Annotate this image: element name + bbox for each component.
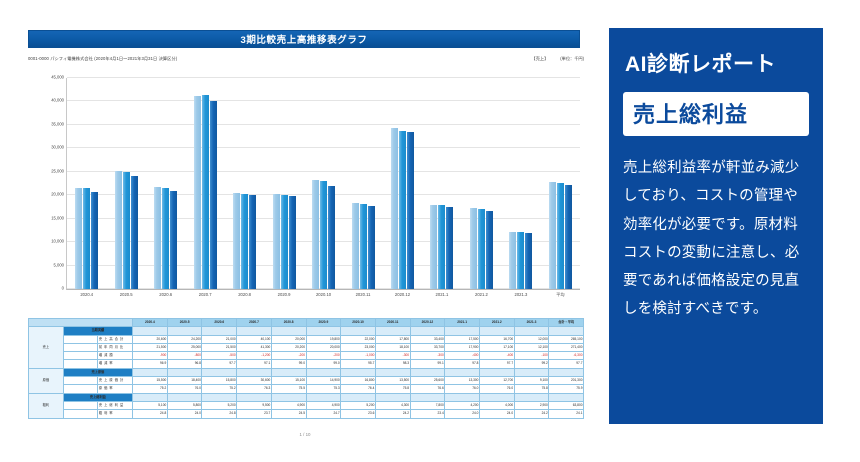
table-value-cell: 18,400 xyxy=(167,377,202,385)
y-axis-tick-label: 40,000 xyxy=(51,98,64,103)
table-value-cell: 20,000 xyxy=(271,335,306,343)
table-value-cell: 16,800 xyxy=(341,377,376,385)
table-row-spacer xyxy=(63,360,98,368)
table-band-cell xyxy=(375,368,410,376)
table-value-cell: 18,100 xyxy=(375,343,410,351)
table-row-spacer xyxy=(63,385,98,393)
table-value-cell: -800 xyxy=(167,352,202,360)
report-screenshot: 3期比較売上高推移表グラフ 0001-0000 パシフィ電機株式会社 (2020… xyxy=(0,0,860,462)
bar-前期-2021.2 xyxy=(478,209,485,289)
bar-当期-2020.5 xyxy=(131,176,138,289)
table-row-label: 増 減 率 xyxy=(98,360,133,368)
table-month-header: 2021.2 xyxy=(479,319,514,327)
table-value-cell: -200 xyxy=(306,352,341,360)
bar-前々期-2020.9 xyxy=(273,194,280,289)
table-value-cell: 98.3 xyxy=(375,360,410,368)
y-axis-tick-label: 35,000 xyxy=(51,121,64,126)
table-month-header: 2020.12 xyxy=(410,319,445,327)
x-axis-tick-label: 平均 xyxy=(556,292,564,298)
table-value-cell: 97.7 xyxy=(202,360,237,368)
table-value-cell: 14,900 xyxy=(306,377,341,385)
ai-panel-heading: AI診断レポート xyxy=(625,48,809,78)
table-value-cell: 95.7 xyxy=(341,360,376,368)
bar-前期-2020.11 xyxy=(360,204,367,289)
y-axis-tick-label: 10,000 xyxy=(51,239,64,244)
table-value-cell: 75.3 xyxy=(306,385,341,393)
bar-group: 2020.6 xyxy=(146,78,185,289)
table-value-cell: 24.0 xyxy=(479,410,514,418)
table-value-cell: 76.0 xyxy=(167,385,202,393)
table-value-cell: 24.8 xyxy=(202,410,237,418)
table-value-cell: 25,000 xyxy=(167,343,202,351)
table-value-cell: 16,700 xyxy=(479,335,514,343)
metric-label: 【売上】 xyxy=(532,56,549,62)
bar-前期-2020.4 xyxy=(83,188,90,289)
table-value-cell: 4,200 xyxy=(445,401,480,409)
x-axis-tick-label: 2021.3 xyxy=(514,292,527,297)
table-band-cell xyxy=(410,368,445,376)
table-value-cell: 76.4 xyxy=(341,385,376,393)
x-axis-tick-label: 2020.7 xyxy=(199,292,212,297)
table-band-cell xyxy=(445,393,480,401)
bar-当期-平均 xyxy=(565,185,572,289)
table-row-spacer xyxy=(63,335,98,343)
table-value-cell: 97.1 xyxy=(237,360,272,368)
bar-前期-2020.9 xyxy=(281,195,288,289)
x-axis-tick-label: 2020.12 xyxy=(395,292,410,297)
table-band-cell xyxy=(167,393,202,401)
table-band-cell xyxy=(133,393,168,401)
table-row: 売 上 原 価 計15,50018,40015,80030,60015,1001… xyxy=(29,377,584,385)
unit-label: (単位：千円) xyxy=(560,56,584,62)
bar-group: 2021.3 xyxy=(501,78,540,289)
table-value-cell: 23,000 xyxy=(341,343,376,351)
table-band-cell xyxy=(445,327,480,335)
bar-前々期-2021.3 xyxy=(509,232,516,289)
table-value-cell: 5,100 xyxy=(133,401,168,409)
table-value-cell: 24.7 xyxy=(306,410,341,418)
table-row-label: 原 価 率 xyxy=(98,385,133,393)
table-band-cell xyxy=(306,368,341,376)
table-group-header-row: 原価売上原価 xyxy=(29,368,584,376)
table-band-cell xyxy=(375,393,410,401)
bar-前期-2020.10 xyxy=(320,181,327,289)
chart-title-bar: 3期比較売上高推移表グラフ xyxy=(28,30,580,48)
table-value-cell: 201,300 xyxy=(549,377,584,385)
bar-当期-2020.6 xyxy=(170,191,177,289)
table-value-cell: 17,500 xyxy=(445,335,480,343)
table-value-cell: 265,100 xyxy=(549,335,584,343)
table-band-cell xyxy=(341,393,376,401)
table-value-cell: 99.2 xyxy=(514,360,549,368)
table-value-cell: 12,000 xyxy=(514,335,549,343)
table-row: 売 上 総 利 益5,1005,8005,2009,5004,9004,9005… xyxy=(29,401,584,409)
table-value-cell: 9,100 xyxy=(514,377,549,385)
table-band-cell xyxy=(549,393,584,401)
table-band-cell xyxy=(410,393,445,401)
chart-subheader: 0001-0000 パシフィ電機株式会社 (2020年4月1日～2021年3月3… xyxy=(28,53,584,65)
bar-前期-2020.5 xyxy=(123,172,130,289)
table-row-rail: 原価 xyxy=(29,368,64,393)
table-header-row: 2020.42020.52020.62020.72020.82020.92020… xyxy=(29,319,584,327)
table-value-cell: 15,500 xyxy=(133,377,168,385)
ai-subject-label: 売上総利益 xyxy=(633,102,748,127)
table-value-cell: 75.8 xyxy=(514,385,549,393)
table-value-cell: 33,700 xyxy=(410,343,445,351)
table-value-cell: 41,300 xyxy=(237,343,272,351)
bar-前々期-2021.1 xyxy=(430,205,437,289)
table-value-cell: 75.2 xyxy=(202,385,237,393)
table-group-label: 当期実績 xyxy=(63,327,132,335)
table-row-label: 売 上 原 価 計 xyxy=(98,377,133,385)
unit-labels: 【売上】 (単位：千円) xyxy=(532,56,585,62)
bar-前々期-2020.4 xyxy=(75,188,82,289)
table-band-cell xyxy=(410,327,445,335)
bar-当期-2020.12 xyxy=(407,132,414,289)
table-value-cell: 2,900 xyxy=(514,401,549,409)
y-axis-tick-label: 45,000 xyxy=(51,75,64,80)
financial-data-table: 2020.42020.52020.62020.72020.82020.92020… xyxy=(28,318,584,419)
table-band-cell xyxy=(375,327,410,335)
table-month-header: 2020.7 xyxy=(237,319,272,327)
table-value-cell: 24.2 xyxy=(375,410,410,418)
table-value-cell: 21,000 xyxy=(202,335,237,343)
table-value-cell: 76.0 xyxy=(479,385,514,393)
table-value-cell: 13,300 xyxy=(445,377,480,385)
table-value-cell: 23.4 xyxy=(410,410,445,418)
table-value-cell: 4,000 xyxy=(479,401,514,409)
x-axis-tick-label: 2021.2 xyxy=(475,292,488,297)
table-value-cell: 63,800 xyxy=(549,401,584,409)
table-band-cell xyxy=(237,327,272,335)
table-month-header: 2020.8 xyxy=(271,319,306,327)
x-axis-tick-label: 2020.6 xyxy=(159,292,172,297)
bar-group: 2020.10 xyxy=(304,78,343,289)
report-page: 3期比較売上高推移表グラフ 0001-0000 パシフィ電機株式会社 (2020… xyxy=(12,8,598,454)
table-group-label: 売上原価 xyxy=(63,368,132,376)
bar-前期-2020.7 xyxy=(202,95,209,289)
table-row: 原 価 率75.276.075.276.375.575.376.475.876.… xyxy=(29,385,584,393)
table-band-cell xyxy=(479,327,514,335)
data-table-container: 2020.42020.52020.62020.72020.82020.92020… xyxy=(28,318,584,419)
table-value-cell: 15,100 xyxy=(271,377,306,385)
table-band-cell xyxy=(341,368,376,376)
bar-group: 2021.1 xyxy=(422,78,461,289)
table-row-label: 粗 利 率 xyxy=(98,410,133,418)
table-value-cell: -6,300 xyxy=(549,352,584,360)
table-value-cell: 99.0 xyxy=(271,360,306,368)
table-row: 増 減 額-900-800-500-1,200-200-200-1,000-30… xyxy=(29,352,584,360)
bar-group: 2020.9 xyxy=(264,78,303,289)
bar-前々期-2020.6 xyxy=(154,187,161,289)
table-value-cell: -300 xyxy=(375,352,410,360)
table-value-cell: -400 xyxy=(479,352,514,360)
table-month-header: 合計・平均 xyxy=(549,319,584,327)
table-value-cell: 24.0 xyxy=(167,410,202,418)
table-value-cell: 7,800 xyxy=(410,401,445,409)
bar-前々期-2020.5 xyxy=(115,171,122,289)
page-number: 1 / 10 xyxy=(12,432,598,437)
bar-当期-2020.10 xyxy=(328,186,335,289)
bar-前期-2020.8 xyxy=(241,194,248,289)
table-band-cell xyxy=(167,368,202,376)
bar-当期-2020.7 xyxy=(210,101,217,289)
chart-title: 3期比較売上高推移表グラフ xyxy=(240,32,367,46)
table-value-cell: -1,200 xyxy=(237,352,272,360)
bar-前期-2020.6 xyxy=(162,188,169,289)
table-corner xyxy=(29,319,133,327)
table-value-cell: 75.5 xyxy=(271,385,306,393)
table-row: 前 年 同 月 比21,50025,00021,50041,30020,2002… xyxy=(29,343,584,351)
table-value-cell: 97.8 xyxy=(445,360,480,368)
table-value-cell: 40,100 xyxy=(237,335,272,343)
y-axis-tick-label: 5,000 xyxy=(54,262,64,267)
table-group-header-row: 粗利売上総利益 xyxy=(29,393,584,401)
bar-前々期-平均 xyxy=(549,182,556,289)
bar-groups: 2020.42020.52020.62020.72020.82020.92020… xyxy=(67,78,580,289)
table-month-header: 2020.11 xyxy=(375,319,410,327)
table-value-cell: 12,100 xyxy=(514,343,549,351)
bar-前期-平均 xyxy=(557,183,564,289)
bar-当期-2020.8 xyxy=(249,195,256,289)
table-value-cell: 76.6 xyxy=(410,385,445,393)
x-axis-tick-label: 2020.11 xyxy=(356,292,371,297)
table-row-spacer xyxy=(63,377,98,385)
table-row-spacer xyxy=(63,352,98,360)
table-band-cell xyxy=(237,393,272,401)
table-value-cell: -1,000 xyxy=(341,352,376,360)
bar-前々期-2020.7 xyxy=(194,96,201,289)
company-period-label: 0001-0000 パシフィ電機株式会社 (2020年4月1日～2021年3月3… xyxy=(28,56,177,62)
bar-前期-2021.1 xyxy=(438,205,445,289)
table-row-spacer xyxy=(63,343,98,351)
table-value-cell: 24,200 xyxy=(167,335,202,343)
table-row-spacer xyxy=(63,401,98,409)
x-axis-tick-label: 2020.4 xyxy=(80,292,93,297)
table-value-cell: 13,500 xyxy=(375,377,410,385)
bar-前々期-2020.10 xyxy=(312,180,319,289)
table-band-cell xyxy=(271,393,306,401)
table-value-cell: 24.2 xyxy=(514,410,549,418)
table-value-cell: 4,300 xyxy=(375,401,410,409)
bar-当期-2020.4 xyxy=(91,192,98,289)
table-row: 増 減 率96.996.897.797.199.099.095.798.399.… xyxy=(29,360,584,368)
x-axis-tick-label: 2020.8 xyxy=(238,292,251,297)
bar-group: 2021.2 xyxy=(462,78,501,289)
table-value-cell: 76.0 xyxy=(445,385,480,393)
bar-group: 2020.5 xyxy=(106,78,145,289)
table-value-cell: 23.7 xyxy=(237,410,272,418)
table-group-label: 売上総利益 xyxy=(63,393,132,401)
plot-area: 45,00040,00035,00030,00025,00020,00015,0… xyxy=(66,78,580,290)
y-axis-tick-label: 0 xyxy=(62,286,64,291)
table-value-cell: 17,100 xyxy=(479,343,514,351)
y-axis-tick-label: 30,000 xyxy=(51,145,64,150)
ai-subject-box: 売上総利益 xyxy=(623,92,809,136)
table-month-header: 2020.10 xyxy=(341,319,376,327)
table-value-cell: 99.0 xyxy=(306,360,341,368)
bar-chart: 45,00040,00035,00030,00025,00020,00015,0… xyxy=(28,70,584,312)
table-value-cell: 20,600 xyxy=(133,335,168,343)
table-value-cell: 15,800 xyxy=(202,377,237,385)
table-value-cell: 19,800 xyxy=(306,335,341,343)
table-value-cell: 24.1 xyxy=(549,410,584,418)
table-value-cell: 23.6 xyxy=(341,410,376,418)
table-value-cell: -300 xyxy=(410,352,445,360)
table-band-cell xyxy=(202,393,237,401)
table-value-cell: 4,900 xyxy=(271,401,306,409)
table-value-cell: -200 xyxy=(271,352,306,360)
table-month-header: 2020.9 xyxy=(306,319,341,327)
table-value-cell: 271,400 xyxy=(549,343,584,351)
table-band-cell xyxy=(306,327,341,335)
table-band-cell xyxy=(549,327,584,335)
table-value-cell: 96.8 xyxy=(167,360,202,368)
table-row: 売 上 高 合 計20,60024,20021,00040,10020,0001… xyxy=(29,335,584,343)
bar-当期-2020.9 xyxy=(289,196,296,289)
table-band-cell xyxy=(341,327,376,335)
table-month-header: 2021.3 xyxy=(514,319,549,327)
table-row-spacer xyxy=(63,410,98,418)
bar-group: 2020.12 xyxy=(383,78,422,289)
table-row: 粗 利 率24.824.024.823.724.524.723.624.223.… xyxy=(29,410,584,418)
table-band-cell xyxy=(133,368,168,376)
bar-前々期-2020.11 xyxy=(352,203,359,289)
table-band-cell xyxy=(271,368,306,376)
table-band-cell xyxy=(514,393,549,401)
table-value-cell: 17,900 xyxy=(445,343,480,351)
table-value-cell: 75.9 xyxy=(549,385,584,393)
x-axis-tick-label: 2020.9 xyxy=(278,292,291,297)
bar-前期-2020.12 xyxy=(399,131,406,289)
bar-group: 2020.4 xyxy=(67,78,106,289)
table-value-cell: 21,500 xyxy=(133,343,168,351)
table-band-cell xyxy=(549,368,584,376)
table-value-cell: 25,600 xyxy=(410,377,445,385)
table-value-cell: 99.1 xyxy=(410,360,445,368)
table-month-header: 2020.6 xyxy=(202,319,237,327)
table-band-cell xyxy=(514,327,549,335)
table-row-label: 売 上 高 合 計 xyxy=(98,335,133,343)
x-axis-tick-label: 2020.10 xyxy=(316,292,331,297)
table-band-cell xyxy=(202,327,237,335)
table-month-header: 2020.4 xyxy=(133,319,168,327)
ai-report-panel: AI診断レポート 売上総利益 売上総利益率が軒並み減少しており、コストの管理や効… xyxy=(609,28,823,424)
bar-group: 2020.7 xyxy=(185,78,224,289)
table-band-cell xyxy=(479,393,514,401)
table-band-cell xyxy=(514,368,549,376)
bar-当期-2021.3 xyxy=(525,233,532,289)
bar-前々期-2021.2 xyxy=(470,208,477,289)
bar-当期-2021.1 xyxy=(446,207,453,289)
table-value-cell: 97.7 xyxy=(479,360,514,368)
table-band-cell xyxy=(306,393,341,401)
bar-当期-2021.2 xyxy=(486,211,493,289)
table-value-cell: 21,500 xyxy=(202,343,237,351)
table-value-cell: 20,200 xyxy=(271,343,306,351)
table-row-label: 売 上 総 利 益 xyxy=(98,401,133,409)
bar-group: 平均 xyxy=(541,78,580,289)
x-axis-tick-label: 2021.1 xyxy=(436,292,449,297)
table-value-cell: 76.3 xyxy=(237,385,272,393)
table-value-cell: -500 xyxy=(202,352,237,360)
table-value-cell: -100 xyxy=(514,352,549,360)
table-row-rail: 売上 xyxy=(29,327,64,368)
table-value-cell: -900 xyxy=(133,352,168,360)
x-axis-tick-label: 2020.5 xyxy=(120,292,133,297)
table-value-cell: 75.8 xyxy=(375,385,410,393)
table-month-header: 2020.5 xyxy=(167,319,202,327)
table-value-cell: 22,000 xyxy=(341,335,376,343)
bar-前々期-2020.12 xyxy=(391,128,398,289)
table-value-cell: 12,700 xyxy=(479,377,514,385)
table-month-header: 2021.1 xyxy=(445,319,480,327)
table-group-header-row: 売上当期実績 xyxy=(29,327,584,335)
table-value-cell: 96.9 xyxy=(133,360,168,368)
table-value-cell: 5,200 xyxy=(202,401,237,409)
table-row-label: 増 減 額 xyxy=(98,352,133,360)
bar-group: 2020.8 xyxy=(225,78,264,289)
table-value-cell: 9,500 xyxy=(237,401,272,409)
table-band-cell xyxy=(167,327,202,335)
bar-前々期-2020.8 xyxy=(233,193,240,289)
table-value-cell: 20,000 xyxy=(306,343,341,351)
table-value-cell: 24.8 xyxy=(133,410,168,418)
table-row-label: 前 年 同 月 比 xyxy=(98,343,133,351)
table-value-cell: 5,200 xyxy=(341,401,376,409)
table-band-cell xyxy=(445,368,480,376)
table-value-cell: 75.2 xyxy=(133,385,168,393)
table-row-rail: 粗利 xyxy=(29,393,64,418)
bar-当期-2020.11 xyxy=(368,206,375,289)
y-axis-tick-label: 20,000 xyxy=(51,192,64,197)
table-value-cell: 17,800 xyxy=(375,335,410,343)
table-value-cell: 24.5 xyxy=(271,410,306,418)
table-value-cell: -400 xyxy=(445,352,480,360)
table-value-cell: 33,400 xyxy=(410,335,445,343)
table-value-cell: 30,600 xyxy=(237,377,272,385)
table-band-cell xyxy=(237,368,272,376)
bar-group: 2020.11 xyxy=(343,78,382,289)
y-axis-tick-label: 15,000 xyxy=(51,215,64,220)
ai-report-body: 売上総利益率が軒並み減少しており、コストの管理や効率化が必要です。原材料コストの… xyxy=(623,154,809,324)
table-band-cell xyxy=(133,327,168,335)
table-value-cell: 4,900 xyxy=(306,401,341,409)
table-band-cell xyxy=(202,368,237,376)
table-band-cell xyxy=(271,327,306,335)
y-axis-tick-label: 25,000 xyxy=(51,168,64,173)
bar-前期-2021.3 xyxy=(517,232,524,289)
table-value-cell: 5,800 xyxy=(167,401,202,409)
table-value-cell: 24.0 xyxy=(445,410,480,418)
table-value-cell: 97.7 xyxy=(549,360,584,368)
table-band-cell xyxy=(479,368,514,376)
